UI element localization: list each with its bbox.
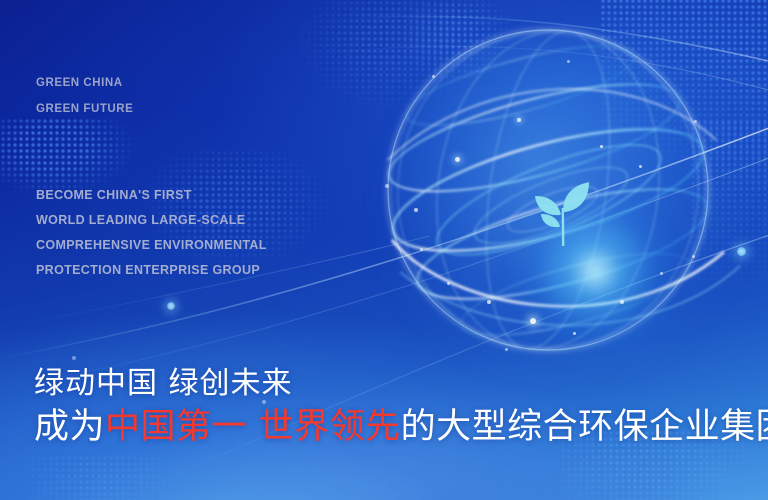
slogan-line: PROTECTION ENTERPRISE GROUP bbox=[36, 258, 267, 283]
sphere-glow bbox=[362, 36, 762, 376]
particle bbox=[487, 300, 491, 304]
slogan-line: COMPREHENSIVE ENVIRONMENTAL bbox=[36, 233, 267, 258]
tagline-block-top: GREEN CHINA GREEN FUTURE bbox=[36, 70, 133, 122]
halftone-world-map bbox=[690, 120, 768, 320]
particle bbox=[692, 255, 695, 258]
particle bbox=[167, 302, 175, 310]
halftone-world-map bbox=[600, 0, 768, 192]
particle bbox=[414, 208, 418, 212]
hero-banner: GREEN CHINA GREEN FUTURE BECOME CHINA'S … bbox=[0, 0, 768, 500]
center-glow-burst bbox=[500, 196, 690, 346]
tagline-line: GREEN FUTURE bbox=[36, 96, 133, 122]
particle bbox=[737, 247, 746, 256]
particle bbox=[567, 60, 570, 63]
particle bbox=[530, 318, 536, 324]
headline-block-chinese: 绿动中国 绿创未来 成为中国第一 世界领先的大型综合环保企业集团 bbox=[34, 364, 768, 450]
particle bbox=[447, 282, 450, 285]
particle bbox=[385, 184, 389, 188]
particle bbox=[620, 300, 624, 304]
headline-prefix: 成为 bbox=[34, 407, 105, 447]
particle bbox=[600, 145, 603, 148]
halftone-world-map bbox=[30, 455, 180, 500]
particle bbox=[639, 165, 642, 168]
glowing-wireframe-globe bbox=[330, 10, 768, 410]
particle bbox=[660, 272, 663, 275]
headline-suffix: 的大型综合环保企业集团 bbox=[401, 407, 768, 447]
headline-line-1: 绿动中国 绿创未来 bbox=[34, 364, 768, 404]
particle bbox=[420, 248, 423, 251]
tagline-line: GREEN CHINA bbox=[36, 70, 133, 96]
slogan-line: WORLD LEADING LARGE-SCALE bbox=[36, 208, 267, 233]
halftone-world-map bbox=[396, 0, 516, 80]
particle bbox=[517, 118, 521, 122]
halftone-world-map bbox=[300, 0, 480, 120]
particle bbox=[455, 157, 460, 162]
headline-highlight: 中国第一 世界领先 bbox=[105, 407, 401, 447]
slogan-block-english: BECOME CHINA'S FIRST WORLD LEADING LARGE… bbox=[36, 183, 267, 283]
particle bbox=[505, 348, 508, 351]
green-sprout-seedling-icon bbox=[527, 168, 599, 254]
halftone-world-map bbox=[0, 118, 144, 192]
particle bbox=[694, 120, 697, 123]
particle bbox=[72, 356, 76, 360]
headline-line-2: 成为中国第一 世界领先的大型综合环保企业集团 bbox=[34, 404, 768, 450]
slogan-line: BECOME CHINA'S FIRST bbox=[36, 183, 267, 208]
particle bbox=[573, 332, 576, 335]
particle bbox=[432, 75, 435, 78]
